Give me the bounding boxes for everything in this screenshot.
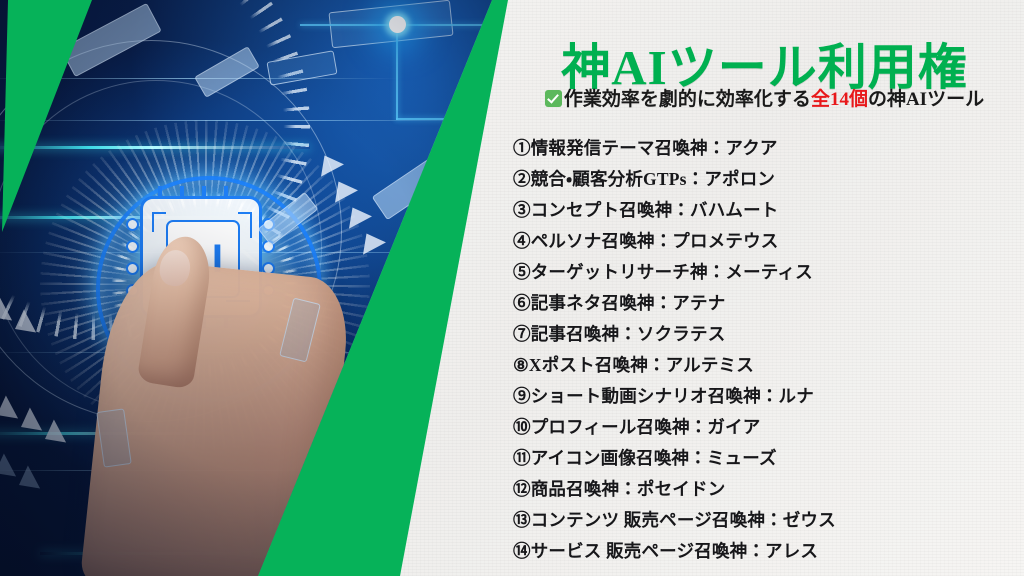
- subtitle-accent: 全14個: [811, 89, 868, 110]
- subtitle-suffix: の神AIツール: [868, 89, 984, 110]
- list-item: ⑨ショート動画シナリオ召喚神：ルナ: [513, 381, 1024, 412]
- chip-trace: [250, 212, 252, 238]
- list-item: ⑦記事召喚神：ソクラテス: [513, 319, 1024, 350]
- green-check-box-icon: [545, 90, 562, 107]
- list-item: ①情報発信テーマ召喚神：アクア: [513, 133, 1024, 164]
- list-item: ②競合・顧客分析GTPs：アポロン: [513, 164, 1024, 195]
- list-item: ⑧Xポスト召喚神：アルテミス: [513, 350, 1024, 381]
- chip-pad: [126, 240, 139, 253]
- chip-pad: [126, 262, 139, 275]
- list-item: ⑫商品召喚神：ポセイドン: [513, 474, 1024, 505]
- subtitle-prefix: 作業効率を劇的に効率化する: [564, 89, 811, 110]
- hud-line: [0, 120, 500, 121]
- chip-pin: [202, 186, 206, 198]
- list-item: ③コンセプト召喚神：バハムート: [513, 195, 1024, 226]
- chip-pin: [180, 186, 184, 198]
- circuit-wire: [396, 24, 398, 120]
- chip-trace: [152, 212, 154, 232]
- circuit-node-icon: [389, 16, 406, 33]
- list-item: ⑩プロフィール召喚神：ガイア: [513, 412, 1024, 443]
- list-item: ⑥記事ネタ召喚神：アテナ: [513, 288, 1024, 319]
- list-item: ⑪アイコン画像召喚神：ミューズ: [513, 443, 1024, 474]
- slide-root: AI: [0, 0, 1024, 576]
- chip-pad: [126, 218, 139, 231]
- chip-pin: [158, 186, 162, 198]
- list-item: ⑭サービス 販売ページ召喚神：アレス: [513, 536, 1024, 567]
- chip-pin: [224, 186, 228, 198]
- list-item: ⑤ターゲットリサーチ神：メーティス: [513, 257, 1024, 288]
- list-item: ④ペルソナ召喚神：プロメテウス: [513, 226, 1024, 257]
- tool-list: ①情報発信テーマ召喚神：アクア②競合・顧客分析GTPs：アポロン③コンセプト召喚…: [513, 133, 1024, 567]
- content-panel: 神AIツール利用権 作業効率を劇的に効率化する全14個の神AIツール ①情報発信…: [505, 0, 1024, 576]
- list-item: ⑬コンテンツ 販売ページ召喚神：ゼウス: [513, 505, 1024, 536]
- chip-trace: [152, 212, 166, 214]
- subtitle: 作業効率を劇的に効率化する全14個の神AIツール: [505, 88, 1024, 113]
